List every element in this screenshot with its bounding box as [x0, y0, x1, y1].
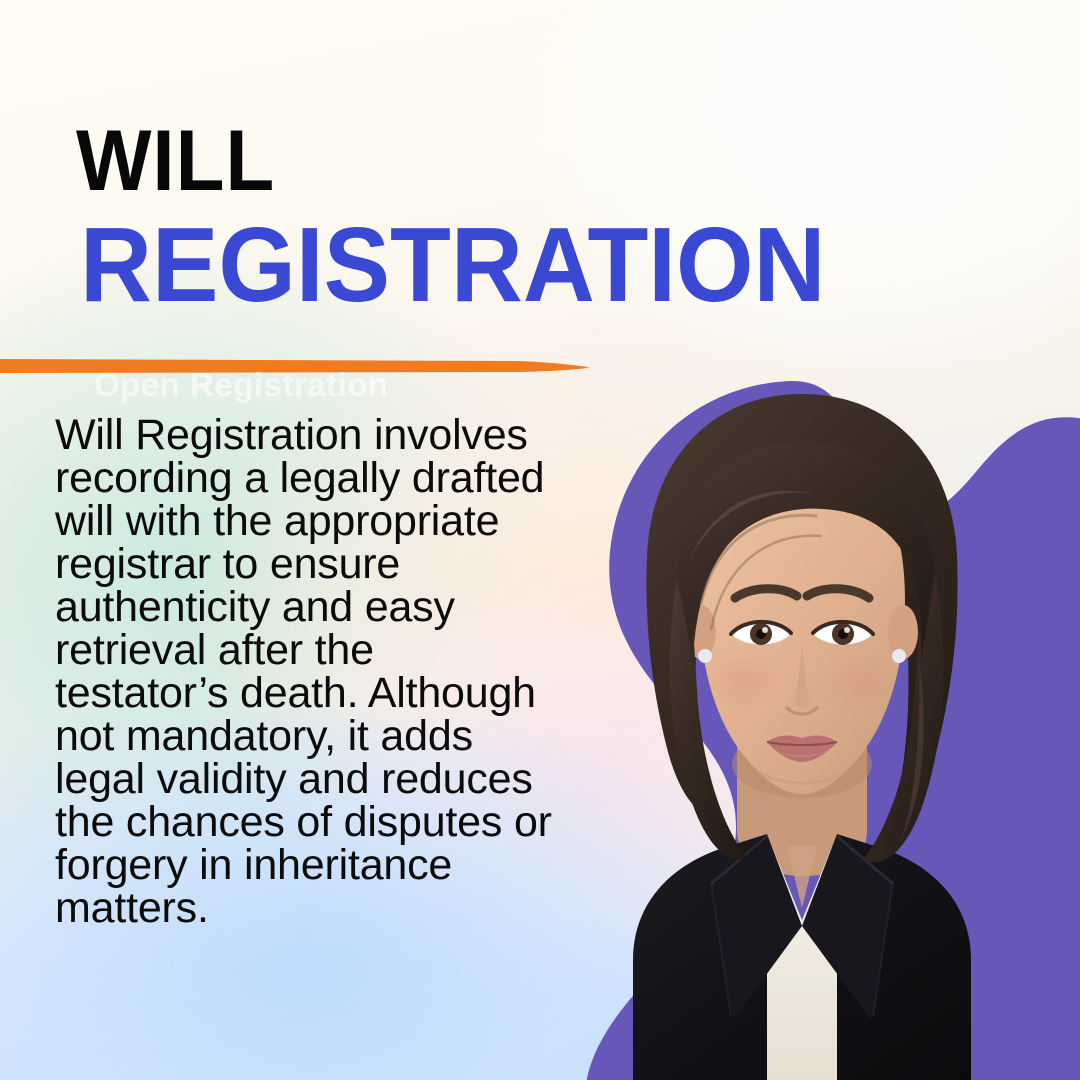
body-copy: Will Registration involves recording a l… — [55, 414, 555, 930]
body-copy-paragraph: Will Registration involves recording a l… — [55, 414, 555, 930]
page-title-will: WILL — [76, 118, 275, 204]
ghost-label-open-registration: Open Registration — [94, 366, 389, 404]
portrait-photo-icon — [515, 360, 1080, 1080]
poster-canvas: Open Registration WILL REGISTRATION Will… — [0, 0, 1080, 1080]
page-title-registration: REGISTRATION — [80, 212, 825, 318]
